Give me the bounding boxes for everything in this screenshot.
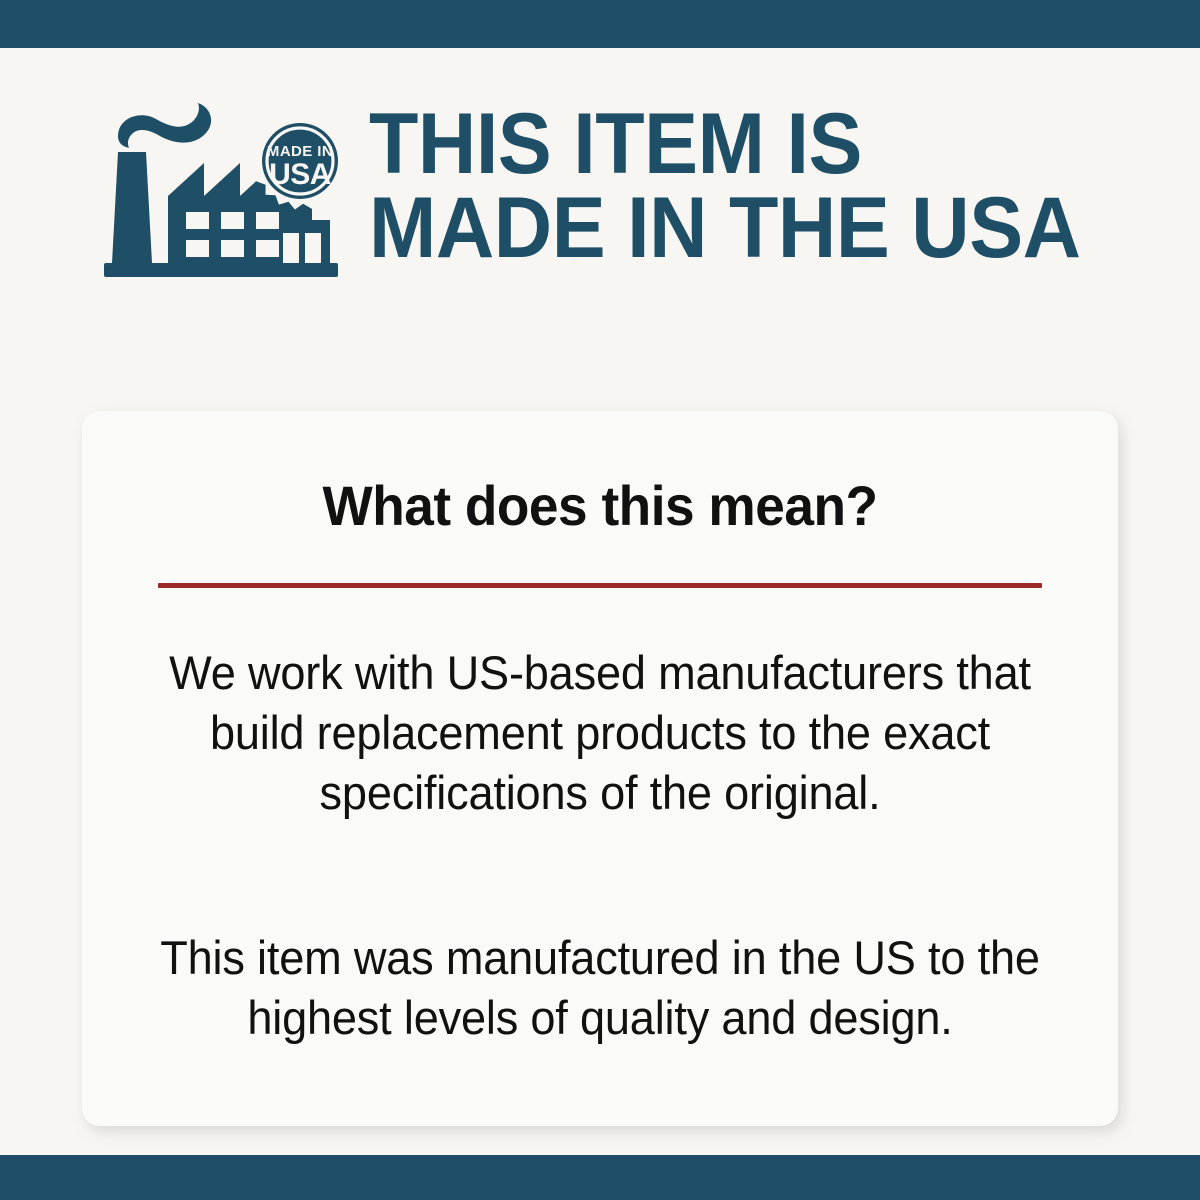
factory-logo: MADE IN USA (100, 100, 345, 285)
badge-line-2: USA (269, 158, 331, 191)
title-divider (158, 583, 1042, 588)
card-paragraph-2: This item was manufactured in the US to … (158, 928, 1041, 1048)
smoke-icon (118, 103, 211, 148)
page-title: THIS ITEM IS MADE IN THE USA (369, 102, 1081, 271)
bottom-accent-bar (0, 1155, 1200, 1200)
chimney-icon (112, 152, 152, 263)
card-title: What does this mean? (108, 473, 1092, 538)
made-in-usa-badge-icon: MADE IN USA (252, 108, 345, 210)
info-card: What does this mean? We work with US-bas… (82, 411, 1118, 1126)
header: MADE IN USA THIS ITEM IS MADE IN THE USA (100, 100, 1160, 290)
page-content: MADE IN USA THIS ITEM IS MADE IN THE USA… (0, 48, 1200, 1155)
top-accent-bar (0, 0, 1200, 48)
factory-annex-icon (272, 220, 330, 263)
factory-base-icon (104, 263, 338, 277)
card-paragraph-1: We work with US-based manufacturers that… (158, 643, 1041, 823)
